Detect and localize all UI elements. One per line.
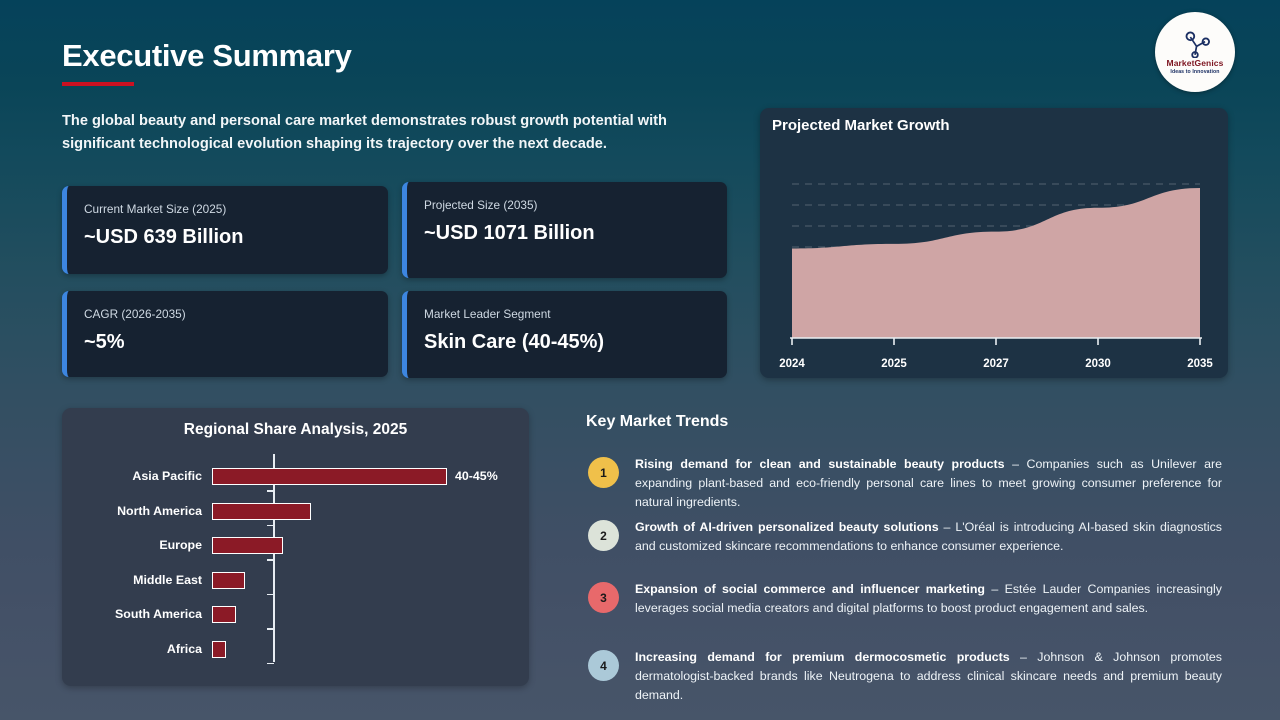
stat-card-cagr: CAGR (2026-2035) ~5% <box>62 291 388 377</box>
bar-track <box>212 602 529 626</box>
trend-text: Increasing demand for premium dermocosme… <box>635 648 1222 705</box>
x-axis-tick-label: 2024 <box>779 358 805 370</box>
stat-value: ~USD 639 Billion <box>84 226 370 249</box>
x-axis-tick-label: 2035 <box>1187 358 1213 370</box>
stat-label: CAGR (2026-2035) <box>84 307 370 321</box>
bar-chart-plot-area: Asia Pacific40-45%North AmericaEuropeMid… <box>62 454 529 679</box>
stat-value: ~5% <box>84 331 370 354</box>
bar-fill <box>212 641 226 658</box>
bar-fill <box>212 537 283 554</box>
bar-track <box>212 499 529 523</box>
page-subtitle: The global beauty and personal care mark… <box>62 110 727 157</box>
trend-text: Rising demand for clean and sustainable … <box>635 455 1222 512</box>
bar-category-label: South America <box>62 607 212 621</box>
bar-category-label: Africa <box>62 642 212 656</box>
bar-track <box>212 533 529 557</box>
regional-share-analysis-chart: Regional Share Analysis, 2025 Asia Pacif… <box>62 408 529 686</box>
bar-chart-row: Africa <box>62 637 529 661</box>
x-axis-tick-label: 2027 <box>983 358 1009 370</box>
projected-market-growth-chart: Projected Market Growth 2024202520272030… <box>760 108 1228 378</box>
trend-headline: Rising demand for clean and sustainable … <box>635 457 1005 471</box>
stat-card-projected-size: Projected Size (2035) ~USD 1071 Billion <box>402 182 727 278</box>
bar-chart-row: South America <box>62 602 529 626</box>
bar-track: 40-45% <box>212 464 529 488</box>
bar-category-label: Asia Pacific <box>62 469 212 483</box>
network-nodes-icon <box>1178 30 1212 58</box>
y-axis-tick <box>267 559 274 561</box>
bar-fill <box>212 503 311 520</box>
bar-chart-row: Asia Pacific40-45% <box>62 464 529 488</box>
trend-headline: Increasing demand for premium dermocosme… <box>635 650 1010 664</box>
title-underline-rule <box>62 82 134 86</box>
page-title: Executive Summary <box>62 38 352 74</box>
stat-label: Market Leader Segment <box>424 307 709 321</box>
area-chart-svg <box>760 108 1228 378</box>
stat-card-market-leader-segment: Market Leader Segment Skin Care (40-45%) <box>402 291 727 378</box>
stat-value: ~USD 1071 Billion <box>424 222 709 245</box>
trend-list-item: 4 Increasing demand for premium dermocos… <box>588 648 1222 705</box>
x-axis-tick-label: 2030 <box>1085 358 1111 370</box>
bar-category-label: Europe <box>62 538 212 552</box>
x-axis-tick-label: 2025 <box>881 358 907 370</box>
stat-label: Current Market Size (2025) <box>84 202 370 216</box>
y-axis-tick <box>267 628 274 630</box>
bar-chart-row: Middle East <box>62 568 529 592</box>
bar-track <box>212 637 529 661</box>
trend-list-item: 1 Rising demand for clean and sustainabl… <box>588 455 1222 512</box>
stat-value: Skin Care (40-45%) <box>424 331 709 354</box>
stat-label: Projected Size (2035) <box>424 198 709 212</box>
trend-text: Growth of AI-driven personalized beauty … <box>635 518 1222 556</box>
trend-number-badge: 2 <box>588 520 619 551</box>
bar-category-label: Middle East <box>62 573 212 587</box>
key-market-trends-heading: Key Market Trends <box>586 413 728 431</box>
company-logo: MarketGenics Ideas to Innovation <box>1155 12 1235 92</box>
logo-tagline: Ideas to Innovation <box>1170 69 1219 75</box>
y-axis-tick <box>267 594 274 596</box>
trend-number-badge: 4 <box>588 650 619 681</box>
logo-name: MarketGenics <box>1167 59 1224 68</box>
bar-chart-row: Europe <box>62 533 529 557</box>
bar-chart-row: North America <box>62 499 529 523</box>
bar-track <box>212 568 529 592</box>
bar-fill <box>212 606 236 623</box>
trend-text: Expansion of social commerce and influen… <box>635 580 1222 618</box>
bar-fill <box>212 468 447 485</box>
y-axis-tick <box>267 525 274 527</box>
bar-category-label: North America <box>62 504 212 518</box>
stat-card-current-market-size: Current Market Size (2025) ~USD 639 Bill… <box>62 186 388 274</box>
bar-value-label: 40-45% <box>455 468 498 485</box>
trend-headline: Growth of AI-driven personalized beauty … <box>635 520 939 534</box>
bar-fill <box>212 572 245 589</box>
trend-headline: Expansion of social commerce and influen… <box>635 582 985 596</box>
trend-number-badge: 3 <box>588 582 619 613</box>
y-axis-tick <box>267 663 274 665</box>
chart-title: Regional Share Analysis, 2025 <box>62 421 529 439</box>
y-axis-tick <box>267 490 274 492</box>
trend-list-item: 3 Expansion of social commerce and influ… <box>588 580 1222 618</box>
trend-number-badge: 1 <box>588 457 619 488</box>
trend-list-item: 2 Growth of AI-driven personalized beaut… <box>588 518 1222 556</box>
